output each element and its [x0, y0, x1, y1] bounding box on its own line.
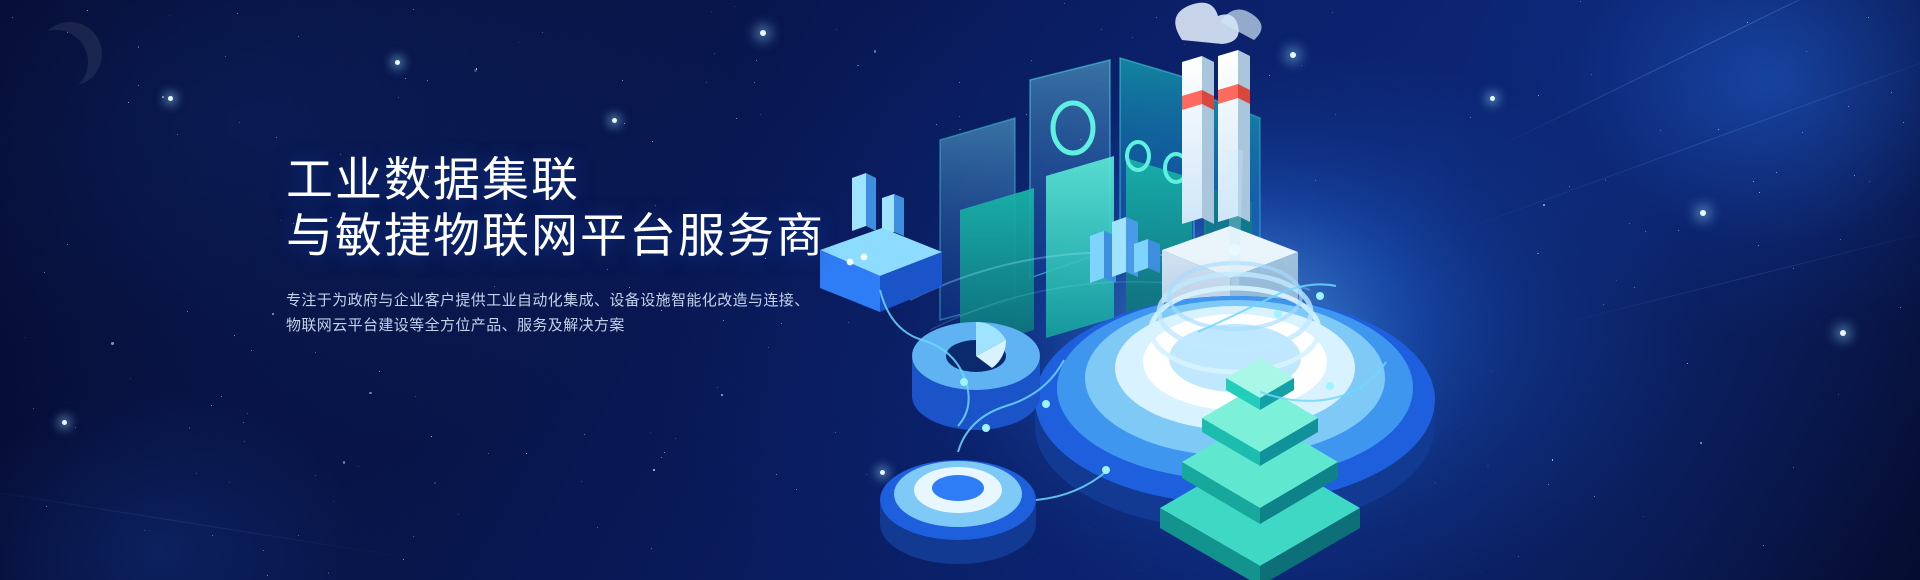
star: [405, 78, 406, 79]
star: [711, 11, 712, 12]
star: [403, 559, 404, 560]
star: [144, 530, 146, 532]
hero-subtitle: 专注于为政府与企业客户提供工业自动化集成、设备设施智能化改造与连接、 物联网云平…: [286, 288, 926, 338]
star: [169, 15, 171, 17]
star: [243, 422, 244, 423]
glow-star: [395, 60, 400, 65]
star: [488, 453, 489, 454]
glow-star: [168, 96, 173, 101]
star: [315, 352, 316, 353]
star: [298, 535, 299, 536]
star: [149, 530, 150, 531]
star: [597, 527, 598, 528]
star: [526, 453, 527, 454]
star: [650, 432, 651, 433]
star: [434, 482, 436, 484]
star: [756, 60, 757, 61]
star: [333, 501, 334, 502]
star: [413, 9, 414, 10]
star: [221, 396, 222, 397]
glow-star: [760, 30, 766, 36]
star: [661, 457, 662, 458]
star: [343, 461, 345, 463]
star: [25, 337, 26, 338]
star: [622, 80, 623, 81]
star: [675, 438, 676, 439]
star: [111, 342, 113, 344]
headline-line-2: 与敏捷物联网平台服务商: [286, 208, 926, 264]
star: [458, 514, 459, 515]
star: [247, 413, 248, 414]
star: [138, 85, 139, 86]
star: [721, 394, 723, 396]
headline-line-1: 工业数据集联: [286, 152, 926, 208]
star: [776, 474, 777, 475]
star: [298, 36, 299, 37]
ring-platform: [880, 460, 1036, 564]
star: [734, 6, 735, 7]
star: [244, 441, 245, 442]
star: [138, 46, 140, 48]
star: [413, 536, 414, 537]
star: [518, 42, 519, 43]
star: [251, 350, 252, 351]
smokestack: [1182, 56, 1202, 224]
star: [714, 53, 715, 54]
star: [476, 68, 478, 70]
star: [272, 313, 274, 315]
star: [237, 13, 238, 14]
star: [239, 122, 240, 123]
star: [651, 548, 652, 549]
star: [315, 475, 316, 476]
star: [706, 82, 707, 83]
star: [225, 56, 226, 57]
hero-banner: 工业数据集联 与敏捷物联网平台服务商 专注于为政府与企业客户提供工业自动化集成、…: [0, 0, 1920, 580]
glow-star: [612, 118, 617, 123]
star: [162, 96, 164, 98]
isometric-iot-industry-illustration: [790, 0, 1920, 580]
star: [653, 469, 655, 471]
star: [717, 387, 718, 388]
star: [398, 97, 399, 98]
star: [624, 123, 625, 124]
star: [128, 102, 129, 103]
star: [736, 118, 737, 119]
star: [768, 347, 769, 348]
donut-disc: [912, 322, 1040, 430]
star: [44, 272, 45, 273]
star: [87, 10, 88, 11]
star: [427, 80, 428, 81]
star: [652, 141, 653, 142]
star: [415, 396, 416, 397]
star: [12, 17, 13, 18]
hero-text-block: 工业数据集联 与敏捷物联网平台服务商 专注于为政府与企业客户提供工业自动化集成、…: [286, 152, 926, 338]
subtitle-line-1: 专注于为政府与企业客户提供工业自动化集成、设备设施智能化改造与连接、: [286, 288, 926, 313]
star: [754, 82, 755, 83]
star: [67, 32, 68, 33]
star: [664, 452, 665, 453]
star: [358, 466, 359, 467]
glow-star: [62, 420, 67, 425]
star: [760, 114, 761, 115]
subtitle-line-2: 物联网云平台建设等全方位产品、服务及解决方案: [286, 313, 926, 338]
star: [542, 32, 543, 33]
